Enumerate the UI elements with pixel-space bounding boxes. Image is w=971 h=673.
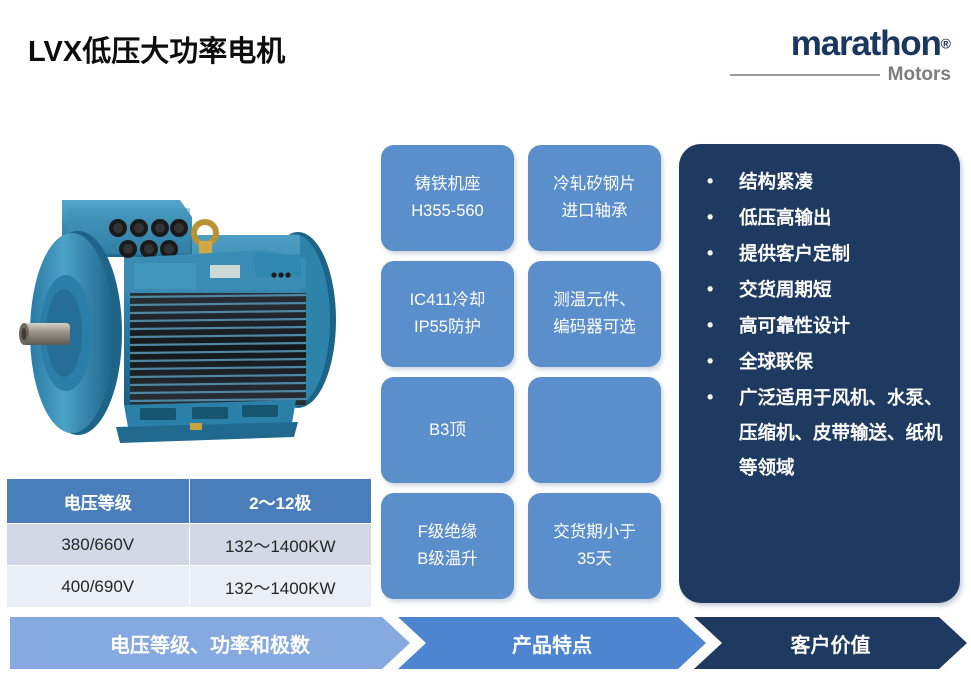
list-item: 全球联保 — [685, 344, 950, 379]
brand-logo: marathon® Motors — [681, 25, 951, 87]
list-item: 广泛适用于风机、水泵、压缩机、皮带输送、纸机等领域 — [685, 380, 950, 485]
feature-box-grid: 铸铁机座 H355-560 冷轧矽钢片 进口轴承 IC411冷却 IP55防护 … — [381, 145, 666, 600]
registered-trademark-icon: ® — [941, 36, 951, 52]
brand-divider-rule — [730, 74, 880, 76]
column-header-poles: 2～12极 — [189, 479, 372, 524]
product-photo-electric-motor — [6, 155, 366, 460]
cell-power: 132～1400KW — [189, 566, 372, 608]
feature-line: 冷轧矽钢片 — [553, 171, 636, 198]
table-row: 400/690V 132～1400KW — [7, 566, 372, 608]
feature-box-3[interactable]: IC411冷却 IP55防护 — [381, 261, 514, 367]
feature-line: IC411冷却 — [410, 287, 486, 314]
brand-subline: Motors — [681, 64, 951, 86]
page-title: LVX低压大功率电机 — [28, 28, 285, 70]
table-header-row: 电压等级 2～12极 — [7, 479, 372, 524]
cell-power: 132～1400KW — [189, 524, 372, 566]
feature-line: B级温升 — [417, 546, 478, 573]
cell-voltage: 400/690V — [7, 566, 190, 608]
cell-voltage: 380/660V — [7, 524, 190, 566]
brand-subtitle: Motors — [888, 64, 951, 86]
feature-box-2[interactable]: 冷轧矽钢片 进口轴承 — [528, 145, 661, 251]
feature-box-5[interactable]: B3顶 — [381, 377, 514, 483]
chevron-product-features[interactable]: 产品特点 — [398, 617, 706, 669]
list-item: 提供客户定制 — [685, 236, 950, 271]
chevron-customer-value[interactable]: 客户价值 — [694, 617, 967, 669]
brand-wordmark-row: marathon® — [681, 25, 951, 63]
feature-line: IP55防护 — [414, 314, 481, 341]
specification-table: 电压等级 2～12极 380/660V 132～1400KW 400/690V … — [6, 478, 372, 608]
column-header-voltage: 电压等级 — [7, 479, 190, 524]
feature-line: H355-560 — [411, 198, 483, 225]
list-item: 结构紧凑 — [685, 164, 950, 199]
feature-line: 交货期小于 — [553, 519, 636, 546]
feature-box-1[interactable]: 铸铁机座 H355-560 — [381, 145, 514, 251]
feature-line: B3顶 — [429, 417, 466, 444]
feature-line: 进口轴承 — [562, 198, 628, 225]
chevron-process-bar: 电压等级、功率和极数 产品特点 客户价值 — [0, 617, 971, 669]
chevron-voltage-power-poles[interactable]: 电压等级、功率和极数 — [10, 617, 410, 669]
customer-value-list: 结构紧凑 低压高输出 提供客户定制 交货周期短 高可靠性设计 全球联保 广泛适用… — [685, 164, 950, 485]
list-item: 高可靠性设计 — [685, 308, 950, 343]
list-item: 交货周期短 — [685, 272, 950, 307]
list-item: 低压高输出 — [685, 200, 950, 235]
table-row: 380/660V 132～1400KW — [7, 524, 372, 566]
feature-line: 编码器可选 — [553, 314, 636, 341]
feature-line: 测温元件、 — [553, 287, 636, 314]
feature-line: F级绝缘 — [418, 519, 478, 546]
feature-box-6-empty[interactable] — [528, 377, 661, 483]
feature-line: 铸铁机座 — [415, 171, 481, 198]
feature-box-7[interactable]: F级绝缘 B级温升 — [381, 493, 514, 599]
customer-value-panel: 结构紧凑 低压高输出 提供客户定制 交货周期短 高可靠性设计 全球联保 广泛适用… — [679, 144, 960, 603]
feature-line: 35天 — [577, 546, 612, 573]
feature-box-4[interactable]: 测温元件、 编码器可选 — [528, 261, 661, 367]
feature-box-8[interactable]: 交货期小于 35天 — [528, 493, 661, 599]
brand-wordmark: marathon — [791, 25, 941, 63]
